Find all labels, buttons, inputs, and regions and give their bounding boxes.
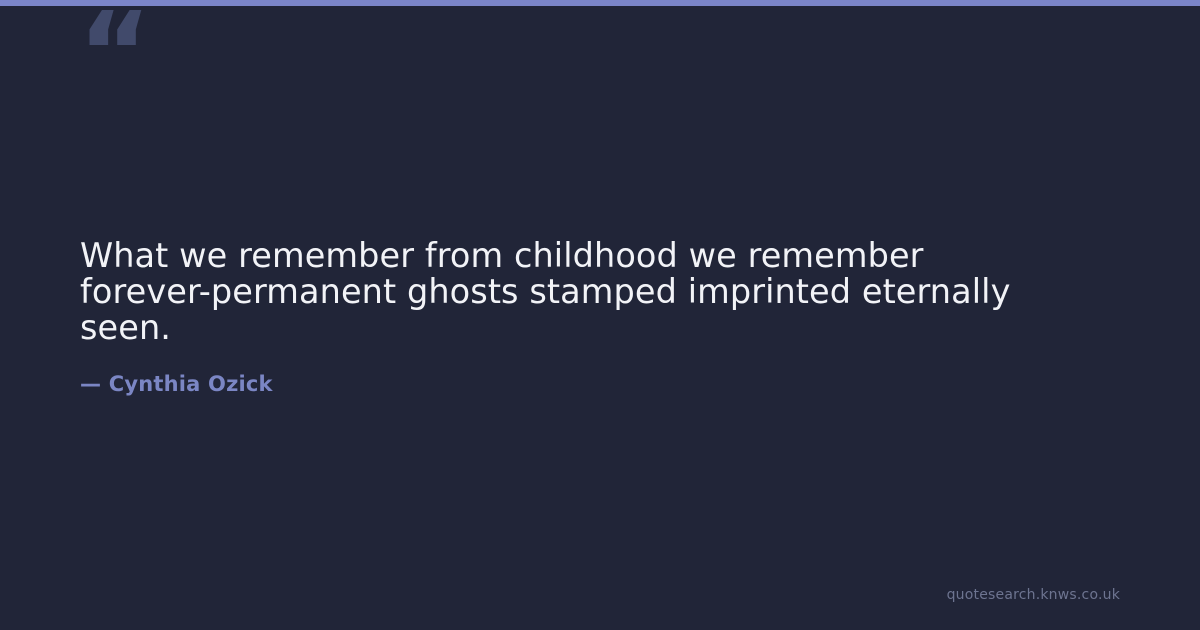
left-double-quotation-mark-icon: “: [78, 0, 150, 110]
top-accent-bar: [0, 0, 1200, 6]
quote-text: What we remember from childhood we remem…: [80, 238, 1090, 346]
quote-card: “ What we remember from childhood we rem…: [0, 0, 1200, 630]
quote-attribution: — Cynthia Ozick: [80, 346, 1090, 397]
quote-body: What we remember from childhood we remem…: [80, 238, 1090, 397]
site-watermark: quotesearch.knws.co.uk: [947, 586, 1120, 604]
